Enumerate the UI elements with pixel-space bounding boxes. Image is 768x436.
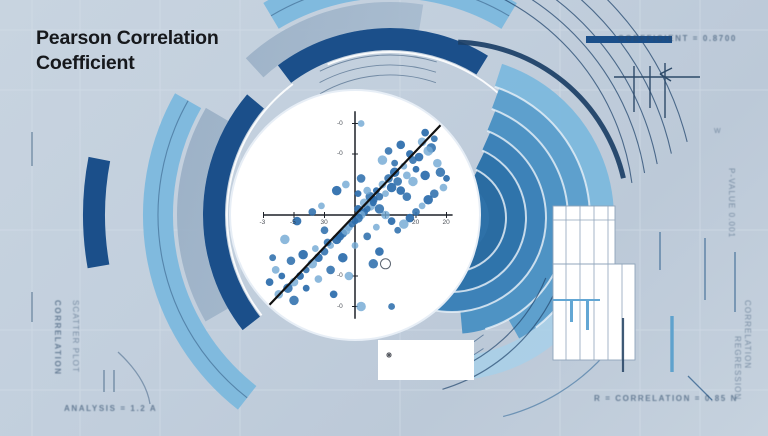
x-axis-tick-label: -3 [260,219,266,226]
right-vertical-label: P-VALUE 0.001 [727,168,736,238]
top-right-bar-label: COEFFICIENT = 0.8700 [618,34,737,43]
bottom-left-vertical-label: CORRELATION [53,300,62,376]
x-axis-tick-label: 20 [412,219,419,226]
page-title: Pearson Correlation Coefficient [36,26,266,76]
page-title-line2: Coefficient [36,52,135,74]
x-axis-tick-label: 20 [443,219,450,226]
bottom-right-vertical-label: REGRESSION [733,336,742,400]
right-vertical-label-2: CORRELATION [743,300,752,369]
y-axis-tick-label: -0 [337,150,343,157]
bottom-left-vertical-label-2: SCATTER PLOT [71,300,80,373]
infographic-canvas: Pearson Correlation Coefficient COEFFICI… [0,0,768,436]
y-axis-tick-label: -0 [337,303,343,310]
x-axis-tick-label: 30 [321,219,328,226]
bottom-left-label: ANALYSIS = 1.2 A [64,404,157,413]
y-axis-tick-label: -0 [337,272,343,279]
bottom-right-label: R = CORRELATION = 0.85 N [594,394,738,403]
mid-right-mark: W [714,128,722,135]
y-axis-tick-label: -0 [337,120,343,127]
page-title-line1: Pearson Correlation [36,27,219,49]
x-axis-tick-label: -5 [290,219,296,226]
